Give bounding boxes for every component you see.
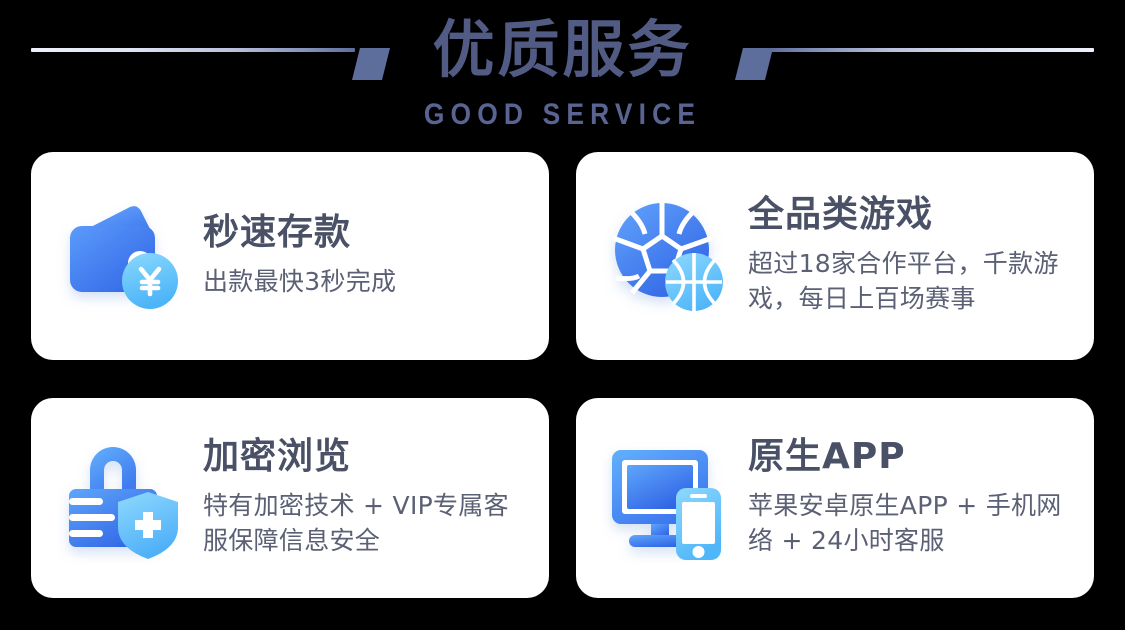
- card-text-block: 全品类游戏 超过18家合作平台，千款游戏，每日上百场赛事: [748, 195, 1074, 317]
- card-description: 出款最快3秒完成: [203, 264, 529, 300]
- card-title: 全品类游戏: [748, 195, 1074, 235]
- lock-shield-icon: [57, 432, 189, 564]
- feature-card-native-app[interactable]: 原生APP 苹果安卓原生APP + 手机网络 + 24小时客服: [576, 398, 1094, 598]
- feature-card-grid: 秒速存款 出款最快3秒完成: [31, 152, 1094, 598]
- banner-header: 优质服务 GOOD SERVICE: [0, 0, 1125, 150]
- card-title: 原生APP: [748, 437, 1074, 477]
- wallet-yen-icon: [57, 190, 189, 322]
- page-subtitle: GOOD SERVICE: [68, 98, 1058, 132]
- card-title: 秒速存款: [203, 213, 529, 253]
- card-description: 特有加密技术 + VIP专属客服保障信息安全: [203, 488, 529, 559]
- soccer-basketball-icon: [602, 190, 734, 322]
- card-description: 苹果安卓原生APP + 手机网络 + 24小时客服: [748, 488, 1074, 559]
- feature-card-encryption[interactable]: 加密浏览 特有加密技术 + VIP专属客服保障信息安全: [31, 398, 549, 598]
- card-text-block: 加密浏览 特有加密技术 + VIP专属客服保障信息安全: [203, 437, 529, 559]
- good-service-banner: 优质服务 GOOD SERVICE: [0, 0, 1125, 630]
- card-description: 超过18家合作平台，千款游戏，每日上百场赛事: [748, 246, 1074, 317]
- page-title: 优质服务: [0, 14, 1125, 85]
- card-text-block: 秒速存款 出款最快3秒完成: [203, 213, 529, 299]
- feature-card-deposit[interactable]: 秒速存款 出款最快3秒完成: [31, 152, 549, 360]
- card-title: 加密浏览: [203, 437, 529, 477]
- feature-card-games[interactable]: 全品类游戏 超过18家合作平台，千款游戏，每日上百场赛事: [576, 152, 1094, 360]
- card-text-block: 原生APP 苹果安卓原生APP + 手机网络 + 24小时客服: [748, 437, 1074, 559]
- monitor-phone-icon: [602, 432, 734, 564]
